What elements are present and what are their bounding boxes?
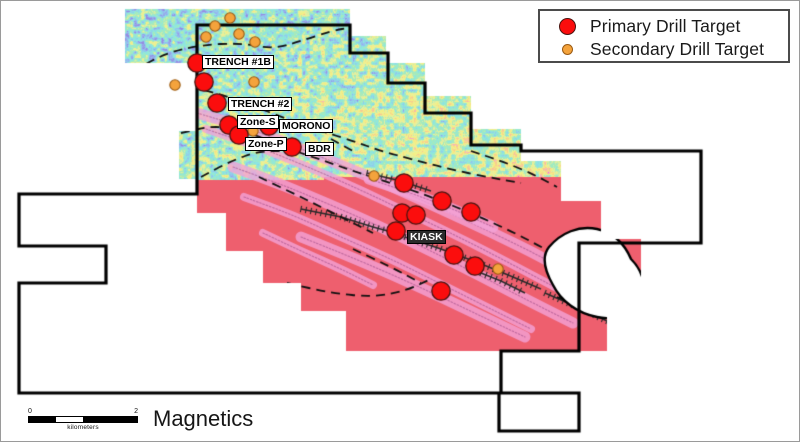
scale-bar-units-label: kilometers bbox=[28, 424, 138, 431]
scale-bar-graphic bbox=[28, 416, 138, 423]
magnetics-raster-map bbox=[1, 1, 800, 442]
magnetics-map-figure: TRENCH #1BTRENCH #2Zone-SMORONOZone-PBDR… bbox=[0, 0, 800, 442]
map-label-zone-s: Zone-S bbox=[237, 115, 279, 129]
legend-box: Primary Drill Target Secondary Drill Tar… bbox=[538, 9, 790, 63]
map-label-zone-p: Zone-P bbox=[245, 137, 287, 151]
legend-item-secondary: Secondary Drill Target bbox=[554, 38, 788, 61]
secondary-drill-target-icon bbox=[554, 44, 580, 55]
scale-bar-min-label: 0 bbox=[28, 407, 32, 416]
scale-bar: 0 2 kilometers bbox=[28, 407, 138, 437]
map-label-trench-2: TRENCH #2 bbox=[228, 97, 292, 111]
scale-bar-max-label: 2 bbox=[134, 407, 138, 416]
map-label-morono: MORONO bbox=[279, 119, 333, 133]
legend-item-primary: Primary Drill Target bbox=[554, 15, 788, 38]
legend-label-secondary: Secondary Drill Target bbox=[590, 39, 764, 60]
map-label-trench-1b: TRENCH #1B bbox=[202, 55, 274, 69]
map-label-kiask: KIASK bbox=[407, 230, 446, 244]
legend-label-primary: Primary Drill Target bbox=[590, 16, 740, 37]
map-label-bdr: BDR bbox=[305, 142, 334, 156]
scale-bar-tick-labels: 0 2 bbox=[28, 407, 138, 416]
primary-drill-target-icon bbox=[554, 18, 580, 35]
map-title: Magnetics bbox=[153, 406, 253, 432]
